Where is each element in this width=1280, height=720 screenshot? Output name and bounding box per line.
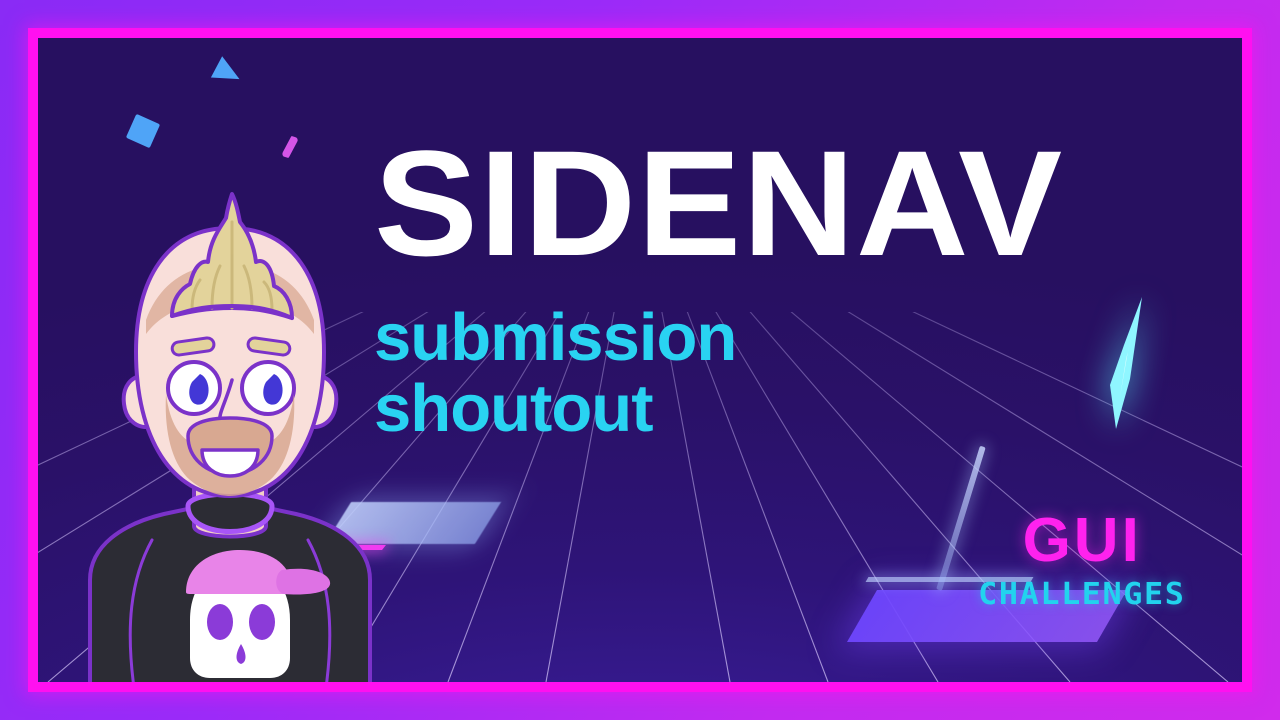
video-thumbnail: SIDENAV submission shoutout GUI CHALLENG… bbox=[0, 0, 1280, 720]
square-blue-icon bbox=[126, 114, 160, 148]
triangle-blue-large-icon bbox=[211, 56, 245, 89]
logo-primary-text: GUI bbox=[984, 510, 1180, 572]
shard-pink-icon bbox=[281, 136, 299, 158]
headline-block: SIDENAV submission shoutout bbox=[374, 134, 1174, 444]
page-title: SIDENAV bbox=[374, 134, 1206, 274]
avatar bbox=[60, 188, 420, 682]
subtitle: submission shoutout bbox=[374, 302, 1174, 444]
gui-challenges-logo: GUI CHALLENGES bbox=[984, 510, 1180, 610]
logo-secondary-text: CHALLENGES bbox=[979, 580, 1186, 610]
thumbnail-stage: SIDENAV submission shoutout GUI CHALLENG… bbox=[38, 38, 1242, 682]
subtitle-line-2: shoutout bbox=[374, 373, 1174, 444]
subtitle-line-1: submission bbox=[374, 302, 1174, 373]
avatar-illustration-svg bbox=[60, 188, 420, 682]
